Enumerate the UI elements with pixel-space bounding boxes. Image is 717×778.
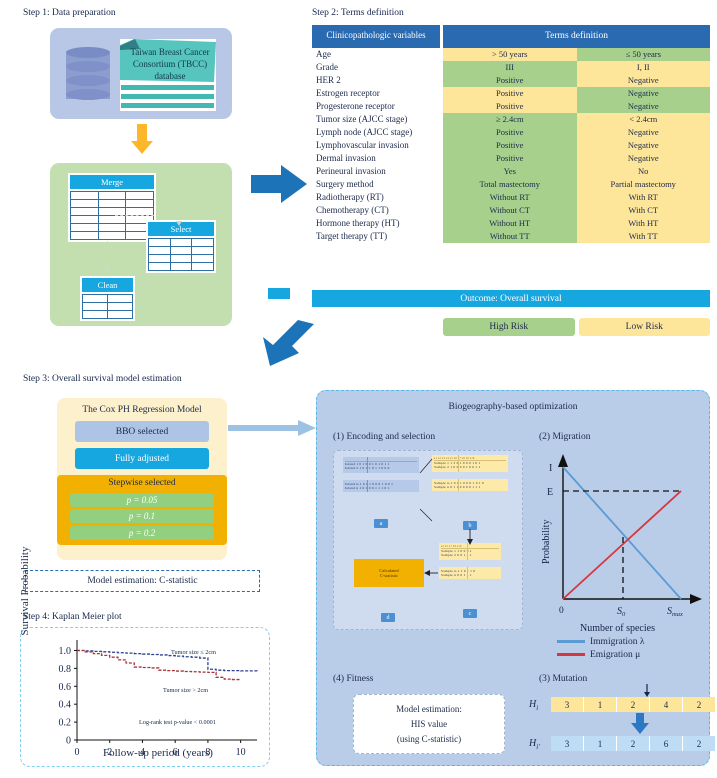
- svg-text:E: E: [547, 487, 553, 498]
- table-row: Tumor size (AJCC stage)≥ 2.4cm< 2.4cm: [312, 113, 710, 126]
- table-row: GradeIIII, II: [312, 61, 710, 74]
- kaplan-meier-plot: Survival Probability Follow-up period (y…: [20, 627, 270, 767]
- step-2-label: Step 2: Terms definition: [312, 8, 404, 18]
- bbo-sub-migration: (2) Migration: [539, 432, 590, 442]
- mutation-row-bottom: 31262: [551, 736, 716, 751]
- mutation-cell-bottom: 3: [551, 736, 584, 751]
- row-low-term: No: [577, 165, 711, 178]
- row-variable: Radiotherapy (RT): [312, 191, 440, 204]
- km-x-axis-label: Follow-up period (years): [63, 747, 253, 759]
- table-row: Progesterone receptorPositiveNegative: [312, 100, 710, 113]
- row-high-term: Without TT: [443, 230, 577, 243]
- row-low-term: With RT: [577, 191, 711, 204]
- table-row: HER 2PositiveNegative: [312, 74, 710, 87]
- mutation-cell-top: 1: [584, 697, 617, 712]
- low-risk-badge: Low Risk: [579, 318, 711, 336]
- svg-text:Probability: Probability: [541, 520, 552, 564]
- row-high-term: Positive: [443, 152, 577, 165]
- cox-title: The Cox PH Regression Model: [57, 398, 227, 415]
- row-variable: Age: [312, 48, 440, 61]
- table-row: Surgery methodTotal mastectomyPartial ma…: [312, 178, 710, 191]
- row-low-term: Negative: [577, 139, 711, 152]
- high-risk-badge: High Risk: [443, 318, 575, 336]
- bbo-selected-bar[interactable]: BBO selected: [75, 421, 209, 442]
- merge-clean-connector: [107, 241, 108, 268]
- fitness-line-3: (using C-statistic): [397, 732, 461, 747]
- table-row: Radiotherapy (RT)Without RTWith RT: [312, 191, 710, 204]
- km-annotation: Log-rank test p-value < 0.0001: [139, 719, 216, 726]
- km-annotation: Tumor size > 2cm: [163, 687, 208, 694]
- row-high-term: ≥ 2.4cm: [443, 113, 577, 126]
- step-1-label: Step 1: Data preparation: [23, 8, 116, 18]
- mutation-arrow-icon: [631, 713, 649, 735]
- mutation-cell-top: 4: [650, 697, 683, 712]
- row-low-term: Negative: [577, 100, 711, 113]
- row-variable: Estrogen receptor: [312, 87, 440, 100]
- fitness-line-2: HIS value: [411, 717, 447, 732]
- p-value-bar-005[interactable]: p = 0.05: [70, 493, 214, 507]
- p-value-bar-01[interactable]: p = 0.1: [70, 509, 214, 523]
- svg-text:I: I: [549, 463, 552, 474]
- select-table: Select: [146, 220, 216, 273]
- table-row: Dermal invasionPositiveNegative: [312, 152, 710, 165]
- arrow-step2-to-step3-icon: [252, 320, 314, 366]
- bbo-title: Biogeography-based optimization: [317, 391, 709, 412]
- svg-text:Number of species: Number of species: [580, 623, 655, 634]
- risk-legend: High Risk Low Risk: [443, 318, 710, 336]
- row-variable: Progesterone receptor: [312, 100, 440, 113]
- model-estimation-box: Model estimation: C-statistic: [25, 570, 260, 592]
- emigration-swatch-icon: [557, 653, 585, 656]
- row-low-term: < 2.4cm: [577, 113, 711, 126]
- outcome-banner: Outcome: Overall survival: [312, 290, 710, 307]
- mutation-cell-bottom: 1: [584, 736, 617, 751]
- merge-label: Merge: [68, 173, 156, 189]
- row-variable: Dermal invasion: [312, 152, 440, 165]
- step1-processing-panel: Merge Select Clean: [50, 163, 232, 326]
- mutation-cell-bottom: 2: [683, 736, 716, 751]
- immigration-swatch-icon: [557, 640, 585, 643]
- database-cylinder-icon: [66, 47, 110, 103]
- row-high-term: Yes: [443, 165, 577, 178]
- mutation-cell-top: 2: [617, 697, 650, 712]
- row-low-term: Negative: [577, 87, 711, 100]
- encoding-connectors: [334, 451, 524, 631]
- merge-select-connector: [115, 215, 180, 216]
- row-variable: Chemotherapy (CT): [312, 204, 440, 217]
- row-high-term: Positive: [443, 74, 577, 87]
- row-variable: Tumor size (AJCC stage): [312, 113, 440, 126]
- row-variable: Surgery method: [312, 178, 440, 191]
- km-y-tick: 0.6: [59, 682, 72, 693]
- stepwise-label: Stepwise selected: [57, 478, 227, 490]
- legend-emigration-label: Emigration μ: [590, 650, 640, 660]
- bbo-panel: Biogeography-based optimization (1) Enco…: [316, 390, 710, 766]
- mutation-cell-bottom: 6: [650, 736, 683, 751]
- km-y-tick: 0.8: [59, 664, 72, 675]
- km-y-axis-label: Survival Probability: [19, 536, 31, 646]
- column-header-variables: Clinicopathologic variables: [312, 25, 440, 48]
- svg-text:0: 0: [559, 606, 564, 616]
- row-high-term: Without HT: [443, 217, 577, 230]
- fitness-line-1: Model estimation:: [396, 702, 462, 717]
- fitness-box: Model estimation: HIS value (using C-sta…: [353, 694, 505, 754]
- terms-definition-table: Clinicopathologic variables Terms defini…: [312, 25, 710, 243]
- row-high-term: Total mastectomy: [443, 178, 577, 191]
- row-high-term: Positive: [443, 126, 577, 139]
- orange-down-arrow-icon: [131, 124, 153, 154]
- merge-table: Merge: [68, 173, 156, 242]
- mutation-cell-top: 2: [683, 697, 716, 712]
- p-value-bar-02[interactable]: p = 0.2: [70, 526, 214, 540]
- table-row: Chemotherapy (CT)Without CTWith CT: [312, 204, 710, 217]
- arrow-step1-to-step2-icon: [251, 165, 307, 203]
- step-3-label: Step 3: Overall survival model estimatio…: [23, 374, 182, 384]
- table-row: Hormone therapy (HT)Without HTWith HT: [312, 217, 710, 230]
- encoding-selection-diagram: Island 1 0 1 0 0 1 0 1 0 1 1 Island 2 1 …: [333, 450, 523, 630]
- table-row: Lymph node (AJCC stage)PositiveNegative: [312, 126, 710, 139]
- select-arrowhead-icon: [176, 221, 182, 226]
- mutation-site-marker-icon: [640, 683, 654, 697]
- bbo-sub-fitness: (4) Fitness: [333, 674, 373, 684]
- mutation-label-hi: Hi: [529, 699, 538, 712]
- row-low-term: Partial mastectomy: [577, 178, 711, 191]
- step-4-label: Step 4: Kaplan Meier plot: [23, 612, 122, 622]
- mutation-cell-bottom: 2: [617, 736, 650, 751]
- table-row: Target therapy (TT)Without TTWith TT: [312, 230, 710, 243]
- arrow-cox-to-bbo-icon: [228, 420, 316, 436]
- table-body: Age> 50 years≤ 50 yearsGradeIIII, IIHER …: [312, 48, 710, 243]
- clean-label: Clean: [80, 276, 135, 292]
- row-variable: Grade: [312, 61, 440, 74]
- row-high-term: Positive: [443, 139, 577, 152]
- row-high-term: Positive: [443, 87, 577, 100]
- stepwise-selected-group: Stepwise selected p = 0.05 p = 0.1 p = 0…: [57, 475, 227, 545]
- row-variable: Target therapy (TT): [312, 230, 440, 243]
- legend-immigration-label: Immigration λ: [590, 637, 644, 647]
- km-series-line: [77, 650, 241, 680]
- step1-source-panel: Taiwan Breast Cancer Consortium (TBCC) d…: [50, 28, 232, 119]
- row-low-term: With TT: [577, 230, 711, 243]
- km-series-line: [77, 650, 257, 671]
- mutation-row-top: 31242: [551, 697, 716, 712]
- cox-ph-model-panel: The Cox PH Regression Model BBO selected…: [57, 398, 227, 560]
- row-high-term: Positive: [443, 100, 577, 113]
- km-y-tick: 0: [66, 736, 71, 747]
- database-title: Taiwan Breast Cancer Consortium (TBCC) d…: [124, 46, 216, 82]
- table-row: Lymphovascular invasionPositiveNegative: [312, 139, 710, 152]
- km-y-tick: 1.0: [59, 646, 72, 657]
- row-low-term: Negative: [577, 126, 711, 139]
- clean-arrowhead-icon: [104, 267, 110, 272]
- svg-text:Smax: Smax: [667, 606, 683, 618]
- km-y-tick: 0.2: [59, 718, 72, 729]
- mutation-cell-top: 3: [551, 697, 584, 712]
- bbo-sub-mutation: (3) Mutation: [539, 674, 587, 684]
- row-low-term: With HT: [577, 217, 711, 230]
- fully-adjusted-bar[interactable]: Fully adjusted: [75, 448, 209, 469]
- row-high-term: III: [443, 61, 577, 74]
- table-row: Perineural invasionYesNo: [312, 165, 710, 178]
- row-low-term: Negative: [577, 74, 711, 87]
- row-variable: Lymphovascular invasion: [312, 139, 440, 152]
- row-high-term: Without RT: [443, 191, 577, 204]
- row-high-term: > 50 years: [443, 48, 577, 61]
- km-y-tick: 0.4: [59, 700, 72, 711]
- bbo-sub-encoding: (1) Encoding and selection: [333, 432, 435, 442]
- legend-immigration: Immigration λ: [557, 635, 644, 648]
- svg-text:S0: S0: [617, 606, 626, 618]
- clean-table: Clean: [80, 276, 135, 321]
- row-low-term: With CT: [577, 204, 711, 217]
- row-variable: Perineural invasion: [312, 165, 440, 178]
- row-variable: HER 2: [312, 74, 440, 87]
- table-row: Estrogen receptorPositiveNegative: [312, 87, 710, 100]
- table-header-row: Clinicopathologic variables Terms defini…: [312, 25, 710, 48]
- row-variable: Hormone therapy (HT): [312, 217, 440, 230]
- legend-emigration: Emigration μ: [557, 648, 644, 661]
- row-low-term: Negative: [577, 152, 711, 165]
- row-variable: Lymph node (AJCC stage): [312, 126, 440, 139]
- column-header-terms: Terms definition: [443, 25, 710, 48]
- connector-marker: [268, 288, 290, 299]
- row-low-term: ≤ 50 years: [577, 48, 711, 61]
- mutation-label-hip: Hi′: [529, 738, 540, 751]
- migration-legend: Immigration λ Emigration μ: [557, 635, 644, 661]
- migration-chart: I E 0 S0 Smax Probability Number of spec…: [535, 449, 703, 649]
- km-annotation: Tumor size ≤ 2cm: [171, 649, 216, 656]
- row-low-term: I, II: [577, 61, 711, 74]
- row-high-term: Without CT: [443, 204, 577, 217]
- table-row: Age> 50 years≤ 50 years: [312, 48, 710, 61]
